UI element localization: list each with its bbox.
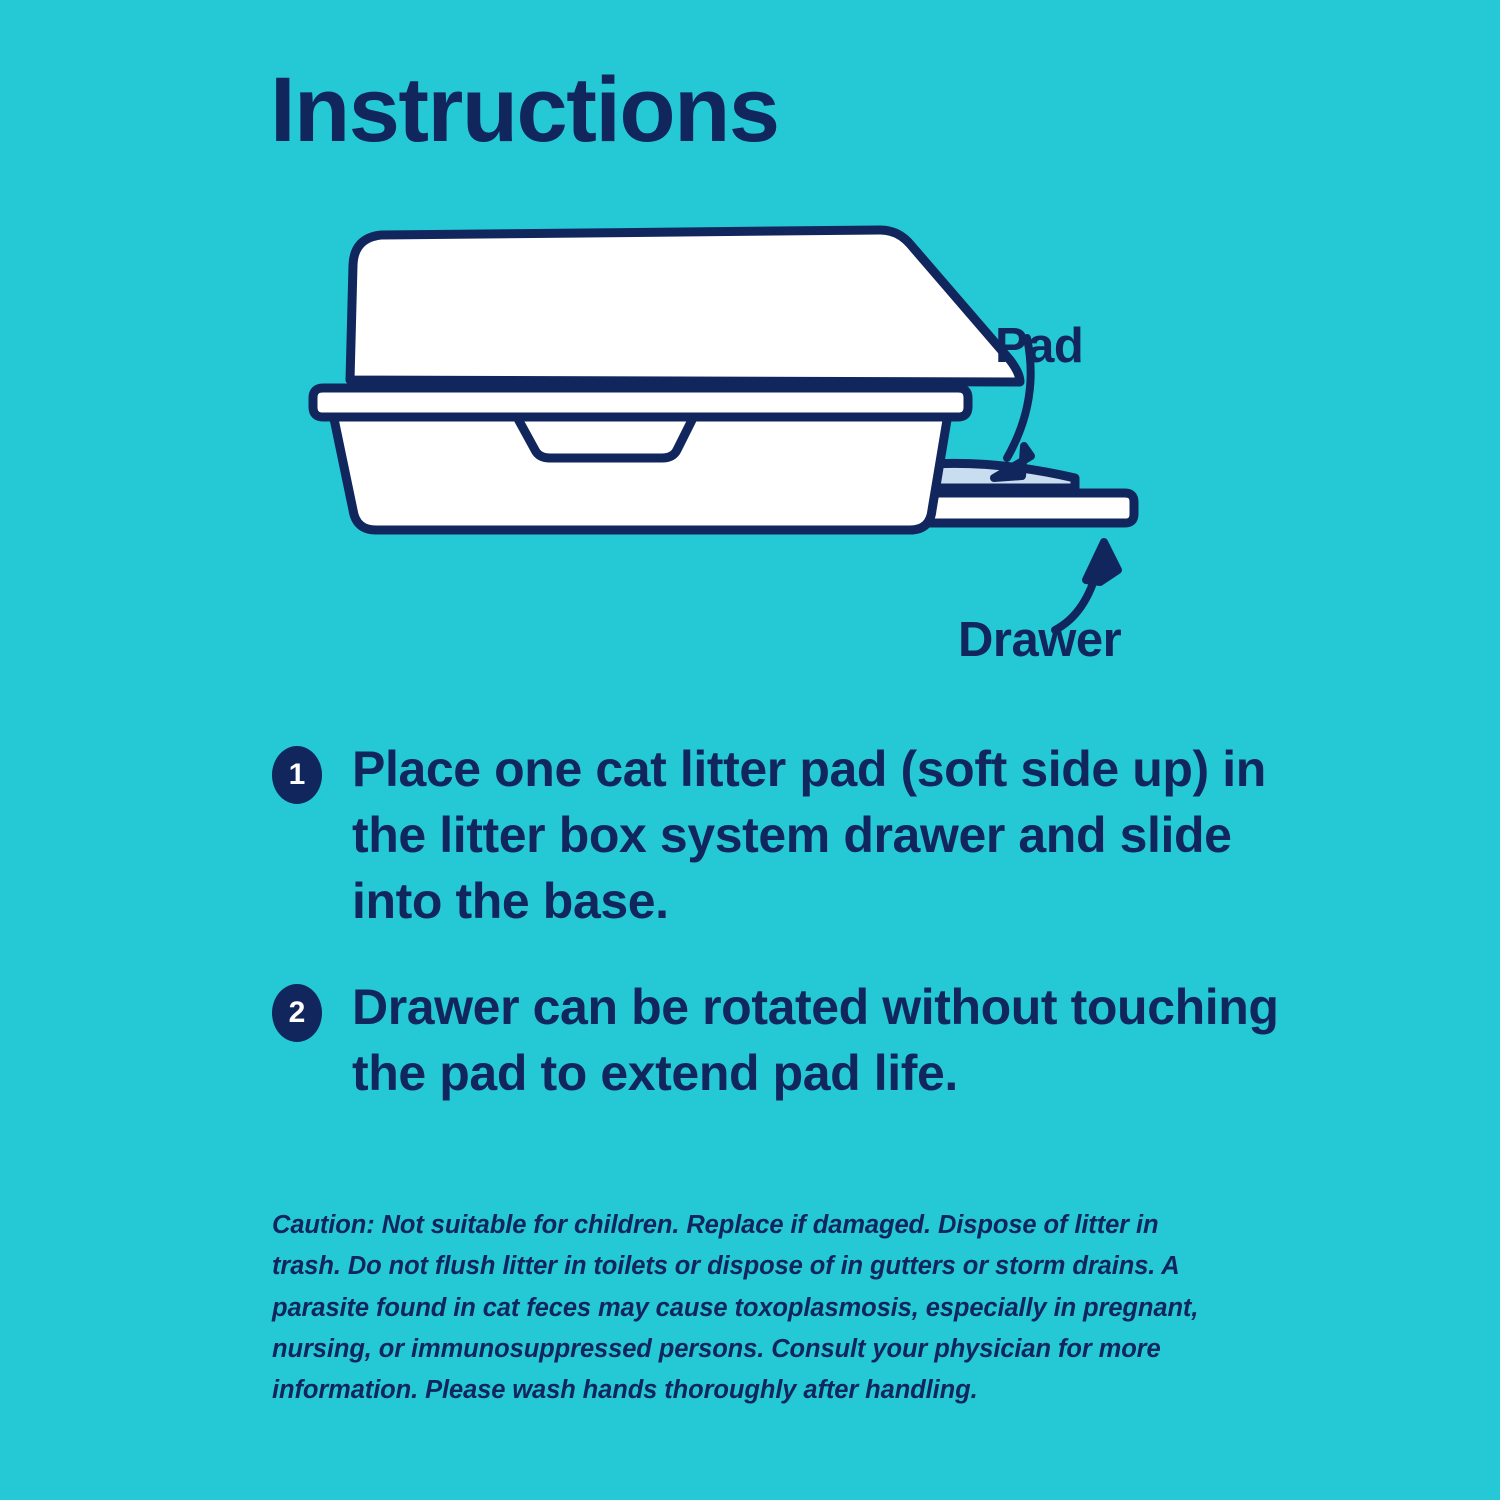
- step-text: Place one cat litter pad (soft side up) …: [352, 736, 1312, 934]
- step-text: Drawer can be rotated without touching t…: [352, 974, 1312, 1106]
- step-number-badge: 1: [272, 746, 322, 804]
- pad-label: Pad: [995, 318, 1083, 374]
- drawer-arrow-head: [1086, 542, 1118, 582]
- caution-text: Caution: Not suitable for children. Repl…: [272, 1205, 1217, 1411]
- step-number-badge: 2: [272, 984, 322, 1042]
- step-item: 2 Drawer can be rotated without touching…: [272, 974, 1312, 1106]
- drawer-label: Drawer: [958, 612, 1121, 668]
- litter-box-hood: [350, 230, 1020, 382]
- page-title: Instructions: [270, 62, 778, 159]
- instructions-panel: Instructions: [0, 0, 1500, 1500]
- steps-list: 1 Place one cat litter pad (soft side up…: [272, 736, 1312, 1146]
- step-item: 1 Place one cat litter pad (soft side up…: [272, 736, 1312, 934]
- rim-band: [313, 388, 968, 417]
